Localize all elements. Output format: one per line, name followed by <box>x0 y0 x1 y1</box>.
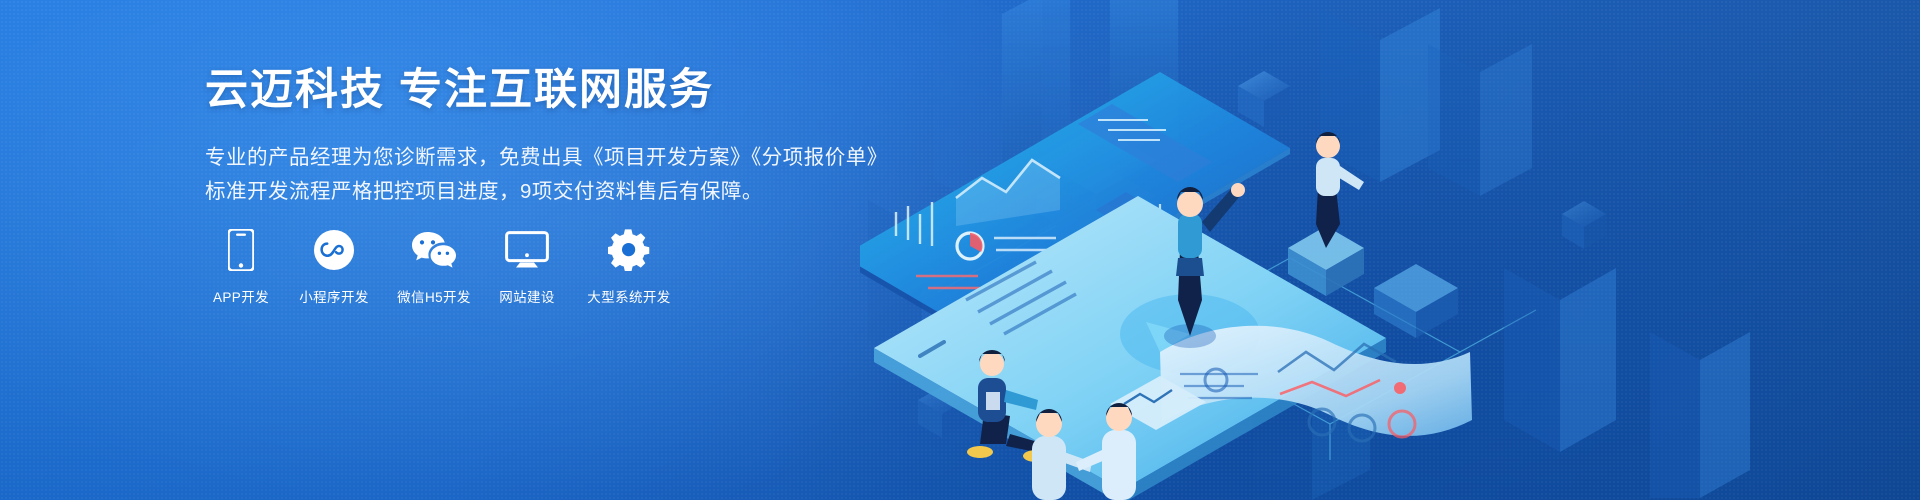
service-label: APP开发 <box>213 286 269 306</box>
service-label: 网站建设 <box>499 286 555 306</box>
mobile-phone-icon <box>228 228 254 272</box>
isometric-data-platform-illustration <box>860 0 1920 500</box>
mini-program-icon <box>313 228 355 272</box>
banner-copy: 云迈科技 专注互联网服务 专业的产品经理为您诊断需求，免费出具《项目开发方案》《… <box>205 66 925 209</box>
service-label: 微信H5开发 <box>397 286 471 306</box>
service-item-wechat-h5[interactable]: 微信H5开发 <box>391 228 477 306</box>
service-label: 小程序开发 <box>299 286 369 306</box>
wechat-icon <box>409 228 459 272</box>
cube-stack-right <box>1374 264 1458 338</box>
service-icon-list: APP开发 小程序开发 <box>205 228 681 306</box>
service-label: 大型系统开发 <box>587 286 670 306</box>
service-item-website[interactable]: 网站建设 <box>491 228 563 306</box>
service-item-mini-program[interactable]: 小程序开发 <box>291 228 377 306</box>
service-item-app[interactable]: APP开发 <box>205 228 277 306</box>
page-title: 云迈科技 专注互联网服务 <box>205 66 925 115</box>
gear-icon <box>608 228 650 272</box>
subtitle-line-2: 标准开发流程严格把控项目进度，9项交付资料售后有保障。 <box>205 175 925 209</box>
subtitle-line-1: 专业的产品经理为您诊断需求，免费出具《项目开发方案》《分项报价单》 <box>205 141 925 175</box>
hero-banner: 云迈科技 专注互联网服务 专业的产品经理为您诊断需求，免费出具《项目开发方案》《… <box>0 0 1920 500</box>
monitor-icon <box>505 228 549 272</box>
service-item-large-system[interactable]: 大型系统开发 <box>577 228 681 306</box>
